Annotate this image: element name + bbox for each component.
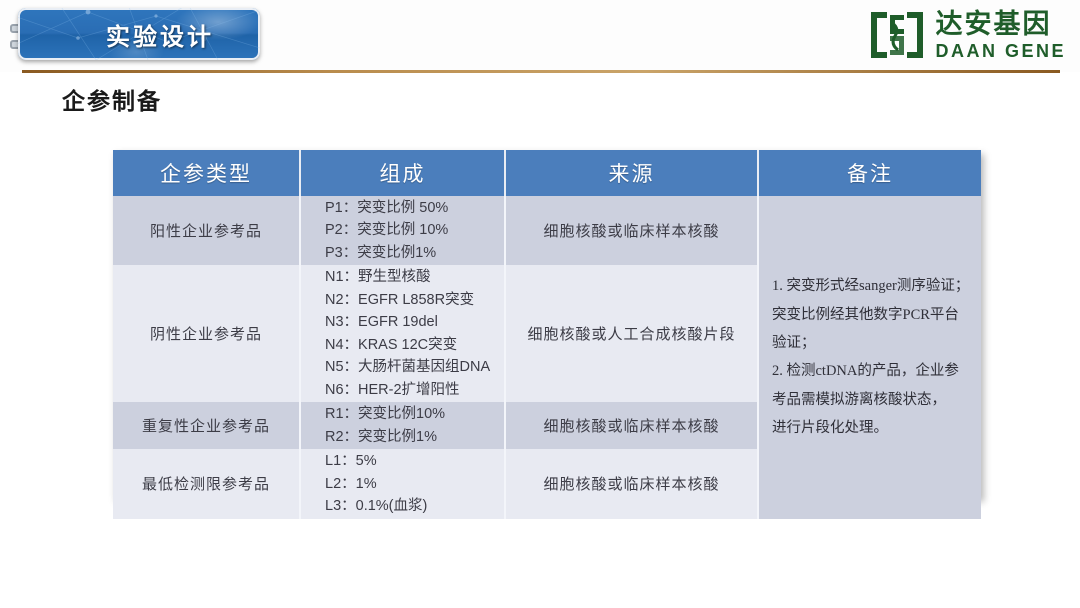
logo-text-cn: 达安基因 bbox=[935, 11, 1066, 38]
header-divider bbox=[22, 70, 1060, 73]
page-title: 企参制备 bbox=[62, 82, 162, 116]
table-header-row: 企参类型 组成 来源 备注 bbox=[113, 150, 981, 196]
remark-line: 验证； bbox=[772, 329, 968, 357]
composition-line: P3：突变比例1% bbox=[325, 242, 503, 264]
remark-line: 考品需模拟游离核酸状态， bbox=[772, 386, 968, 414]
composition-line: R1：突变比例10% bbox=[325, 403, 503, 425]
cell-type: 阴性企业参考品 bbox=[113, 265, 300, 402]
cell-composition: P1：突变比例 50% P2：突变比例 10% P3：突变比例1% bbox=[300, 196, 505, 265]
daan-gene-logo-icon bbox=[869, 10, 925, 60]
composition-line: P2：突变比例 10% bbox=[325, 219, 503, 241]
cell-source: 细胞核酸或人工合成核酸片段 bbox=[505, 265, 758, 402]
logo-text: 达安基因 DAAN GENE bbox=[935, 11, 1066, 60]
composition-line: N6：HER-2扩增阳性 bbox=[325, 379, 503, 401]
remark-line: 2. 检测ctDNA的产品，企业参 bbox=[772, 357, 968, 385]
cell-composition: L1：5% L2：1% L3：0.1%(血浆) bbox=[300, 449, 505, 518]
remark-line: 突变比例经其他数字PCR平台 bbox=[772, 301, 968, 329]
remark-line: 1. 突变形式经sanger测序验证； bbox=[772, 272, 968, 300]
logo-text-en: DAAN GENE bbox=[935, 42, 1066, 60]
composition-line: L2：1% bbox=[325, 473, 503, 495]
cell-source: 细胞核酸或临床样本核酸 bbox=[505, 196, 758, 265]
composition-line: P1：突变比例 50% bbox=[325, 197, 503, 219]
column-header-type: 企参类型 bbox=[113, 150, 300, 196]
column-header-source: 来源 bbox=[505, 150, 758, 196]
composition-line: N1：野生型核酸 bbox=[325, 266, 503, 288]
table-row: 阳性企业参考品 P1：突变比例 50% P2：突变比例 10% P3：突变比例1… bbox=[113, 196, 981, 265]
banner-label: 实验设计 bbox=[18, 8, 260, 60]
composition-line: N5：大肠杆菌基因组DNA bbox=[325, 356, 503, 378]
cell-source: 细胞核酸或临床样本核酸 bbox=[505, 449, 758, 518]
cell-type: 阳性企业参考品 bbox=[113, 196, 300, 265]
reference-material-table: 企参类型 组成 来源 备注 阳性企业参考品 P1：突变比例 50% P2：突变比… bbox=[113, 150, 981, 498]
cell-source: 细胞核酸或临床样本核酸 bbox=[505, 402, 758, 449]
remark-line: 进行片段化处理。 bbox=[772, 414, 968, 442]
slide-header: 实验设计 达安基因 DAAN GENE bbox=[0, 0, 1080, 72]
composition-line: L1：5% bbox=[325, 450, 503, 472]
company-logo: 达安基因 DAAN GENE bbox=[869, 6, 1066, 64]
composition-line: N4：KRAS 12C突变 bbox=[325, 334, 503, 356]
composition-line: N3：EGFR 19del bbox=[325, 311, 503, 333]
section-banner: 实验设计 bbox=[10, 8, 260, 60]
cell-remark: 1. 突变形式经sanger测序验证； 突变比例经其他数字PCR平台 验证； 2… bbox=[758, 196, 981, 519]
composition-line: L3：0.1%(血浆) bbox=[325, 495, 503, 517]
banner-plate: 实验设计 bbox=[18, 8, 260, 60]
cell-composition: N1：野生型核酸 N2：EGFR L858R突变 N3：EGFR 19del N… bbox=[300, 265, 505, 402]
composition-line: N2：EGFR L858R突变 bbox=[325, 289, 503, 311]
composition-line: R2：突变比例1% bbox=[325, 426, 503, 448]
cell-type: 重复性企业参考品 bbox=[113, 402, 300, 449]
column-header-composition: 组成 bbox=[300, 150, 505, 196]
remark-text: 1. 突变形式经sanger测序验证； 突变比例经其他数字PCR平台 验证； 2… bbox=[760, 272, 980, 442]
cell-composition: R1：突变比例10% R2：突变比例1% bbox=[300, 402, 505, 449]
table: 企参类型 组成 来源 备注 阳性企业参考品 P1：突变比例 50% P2：突变比… bbox=[113, 150, 981, 519]
column-header-remark: 备注 bbox=[758, 150, 981, 196]
cell-type: 最低检测限参考品 bbox=[113, 449, 300, 518]
